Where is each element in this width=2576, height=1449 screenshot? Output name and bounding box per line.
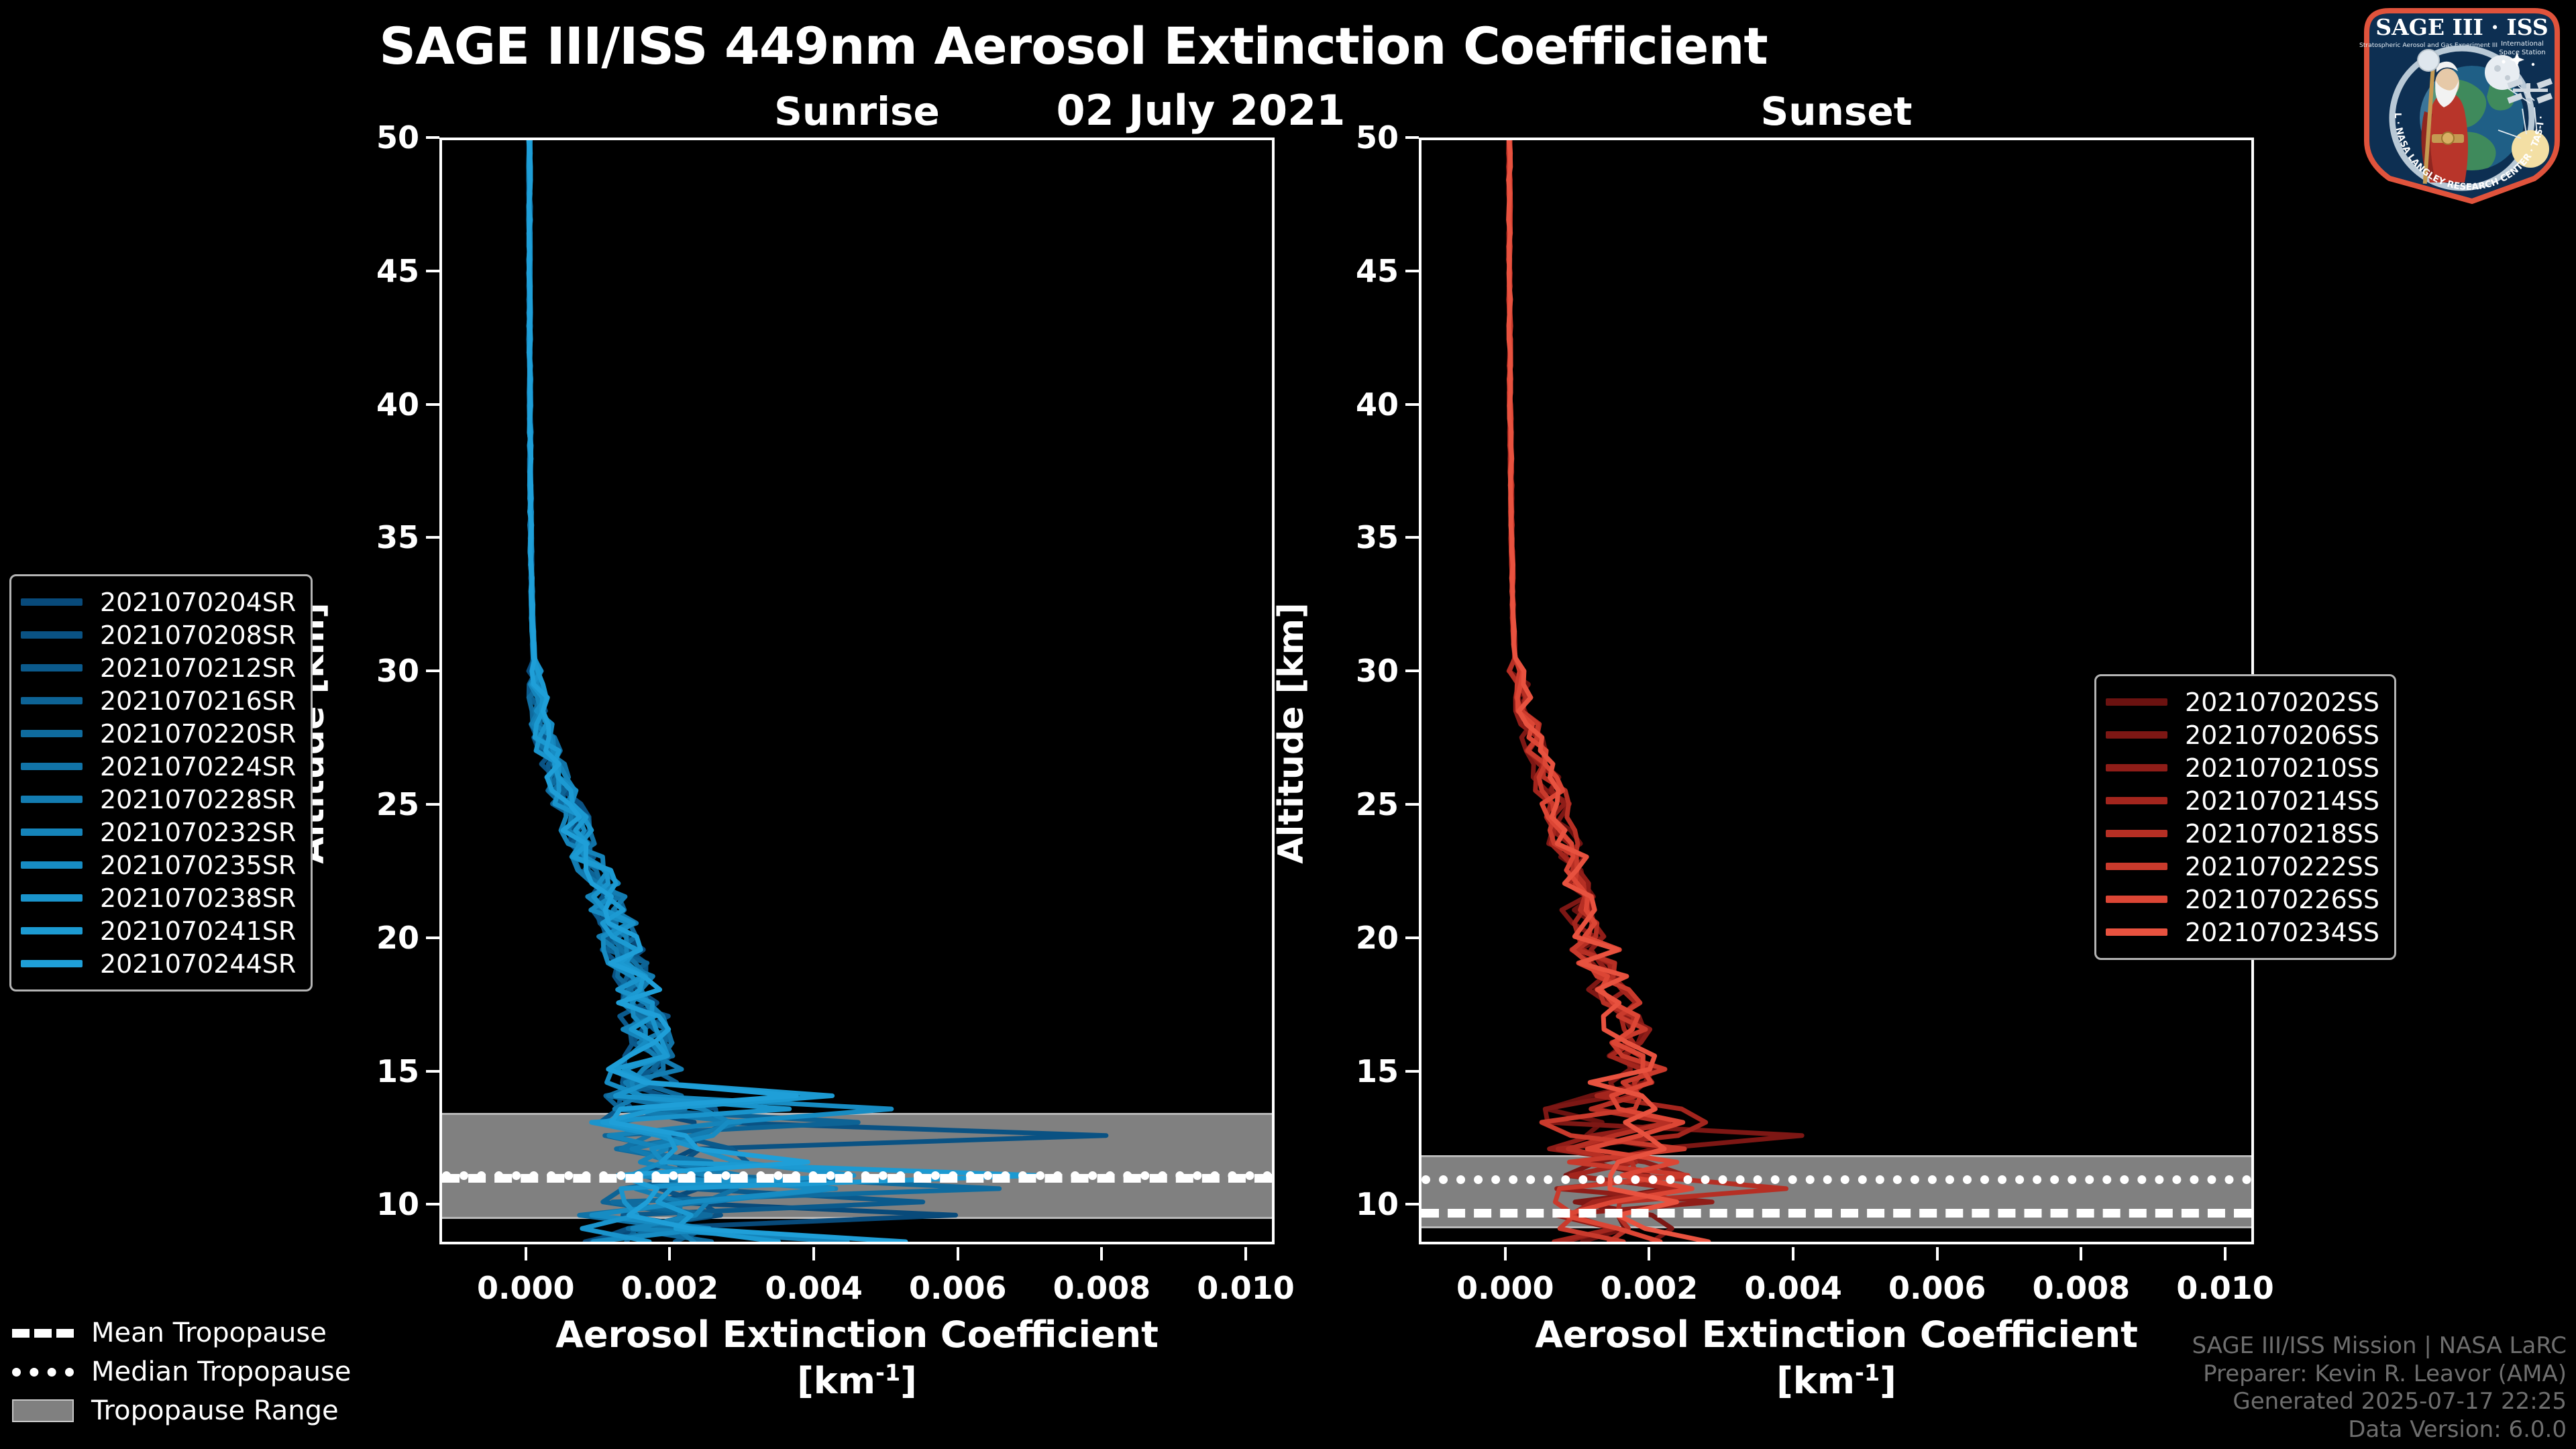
x-tick-label: 0.002	[1601, 1270, 1699, 1306]
legend-item-label: 2021070241SR	[100, 916, 296, 946]
x-axis-label-sunrise: Aerosol Extinction Coefficient [km-1]	[439, 1311, 1275, 1404]
legend-color-swatch	[21, 763, 83, 770]
patch-subtitle-right-1: International	[2501, 40, 2544, 48]
legend-item[interactable]: 2021070234SS	[2106, 916, 2379, 949]
credits-line-4: Data Version: 6.0.0	[2192, 1416, 2567, 1444]
legend-color-swatch	[2106, 797, 2167, 804]
x-tick-mark	[668, 1247, 671, 1260]
profile-line	[529, 140, 1037, 1242]
plot-sunrise	[439, 138, 1275, 1244]
x-tick-mark	[957, 1247, 959, 1260]
profile-line	[1509, 140, 1692, 1242]
legend-item-label: 2021070220SR	[100, 719, 296, 749]
y-tick-mark	[1405, 536, 1419, 539]
y-tick-mark	[426, 936, 439, 939]
y-tick-mark	[1405, 270, 1419, 272]
y-axis-label-sunset: Altitude [km]	[1271, 545, 1311, 921]
legend-color-swatch	[21, 664, 83, 672]
legend-item-label: 2021070214SS	[2185, 786, 2379, 816]
y-tick-label: 50	[1305, 119, 1399, 156]
y-tick-mark	[426, 1203, 439, 1205]
y-tick-mark	[1405, 136, 1419, 139]
y-tick-label: 30	[325, 653, 419, 689]
x-tick-label: 0.004	[765, 1270, 863, 1306]
profile-line	[1509, 140, 1709, 1242]
x-tick-label: 0.002	[621, 1270, 719, 1306]
profile-curves	[442, 140, 1272, 1242]
y-tick-label: 35	[1305, 519, 1399, 555]
legend-color-swatch	[21, 894, 83, 902]
median-tropopause-line	[1421, 1175, 2251, 1184]
x-tick-label: 0.004	[1744, 1270, 1842, 1306]
legend-item[interactable]: 2021070222SS	[2106, 850, 2379, 883]
legend-item[interactable]: 2021070220SR	[21, 717, 296, 750]
legend-color-swatch	[2106, 698, 2167, 706]
legend-item-label: 2021070226SS	[2185, 885, 2379, 914]
legend-color-swatch	[21, 927, 83, 934]
legend-item-label: 2021070238SR	[100, 883, 296, 913]
legend-item-label: 2021070208SR	[100, 621, 296, 650]
legend-item[interactable]: 2021070224SR	[21, 750, 296, 783]
dotted-line-icon	[12, 1368, 74, 1377]
x-axis-label-sunset: Aerosol Extinction Coefficient [km-1]	[1419, 1311, 2254, 1404]
profile-line	[529, 140, 892, 1242]
y-tick-mark	[1405, 403, 1419, 406]
credits-block: SAGE III/ISS Mission | NASA LaRC Prepare…	[2192, 1332, 2567, 1444]
x-tick-label: 0.006	[1888, 1270, 1986, 1306]
legend-item-label: 2021070222SS	[2185, 852, 2379, 881]
dashed-line-icon	[12, 1329, 74, 1338]
legend-color-swatch	[2106, 896, 2167, 903]
y-tick-label: 40	[325, 386, 419, 423]
legend-item-label: 2021070202SS	[2185, 688, 2379, 717]
y-tick-mark	[426, 536, 439, 539]
legend-item[interactable]: 2021070202SS	[2106, 686, 2379, 718]
y-tick-mark	[1405, 1070, 1419, 1073]
y-tick-mark	[1405, 936, 1419, 939]
legend-label-median: Median Tropopause	[91, 1356, 351, 1387]
y-tick-mark	[1405, 669, 1419, 672]
profile-line	[529, 140, 956, 1242]
legend-color-swatch	[2106, 731, 2167, 739]
y-tick-mark	[426, 270, 439, 272]
legend-color-swatch	[2106, 928, 2167, 936]
legend-color-swatch	[2106, 863, 2167, 870]
legend-color-swatch	[21, 598, 83, 606]
y-tick-mark	[426, 1070, 439, 1073]
legend-color-swatch	[21, 960, 83, 967]
legend-color-swatch	[21, 828, 83, 836]
legend-color-swatch	[21, 631, 83, 639]
legend-item-label: 2021070244SR	[100, 949, 296, 979]
legend-item[interactable]: 2021070241SR	[21, 914, 296, 947]
x-tick-label: 0.000	[1456, 1270, 1554, 1306]
legend-sunrise[interactable]: 2021070204SR2021070208SR2021070212SR2021…	[9, 574, 313, 991]
y-tick-label: 20	[1305, 920, 1399, 956]
x-tick-label: 0.010	[2176, 1270, 2274, 1306]
profile-line	[529, 140, 858, 1242]
y-tick-label: 15	[325, 1053, 419, 1089]
legend-item-label: 2021070210SS	[2185, 753, 2379, 783]
legend-item[interactable]: 2021070206SS	[2106, 718, 2379, 751]
x-tick-label: 0.008	[1053, 1270, 1151, 1306]
y-tick-label: 35	[325, 519, 419, 555]
legend-color-swatch	[21, 861, 83, 869]
profile-line	[1509, 140, 1688, 1242]
sage3-iss-mission-patch-logo: SAGE III · ISS Stratospheric Aerosol and…	[2355, 3, 2569, 204]
x-tick-label: 0.000	[477, 1270, 575, 1306]
legend-item[interactable]: 2021070212SR	[21, 651, 296, 684]
page-title: SAGE III/ISS 449nm Aerosol Extinction Co…	[0, 16, 2147, 76]
y-tick-mark	[426, 136, 439, 139]
legend-item[interactable]: 2021070226SS	[2106, 883, 2379, 916]
x-axis-unit: [km-1]	[439, 1358, 1275, 1404]
y-tick-mark	[1405, 1203, 1419, 1205]
x-axis-label-text: Aerosol Extinction Coefficient	[555, 1313, 1159, 1356]
legend-item-label: 2021070228SR	[100, 785, 296, 814]
legend-item-label: 2021070235SR	[100, 851, 296, 880]
legend-item-median-tropopause: Median Tropopause	[12, 1352, 351, 1391]
legend-color-swatch	[2106, 830, 2167, 837]
profile-line	[529, 140, 906, 1242]
x-tick-mark	[525, 1247, 527, 1260]
legend-item[interactable]: 2021070238SR	[21, 881, 296, 914]
legend-color-swatch	[2106, 764, 2167, 771]
legend-item-label: 2021070204SR	[100, 588, 296, 617]
filled-band-icon	[12, 1399, 74, 1422]
y-tick-label: 45	[1305, 253, 1399, 289]
y-tick-label: 25	[325, 786, 419, 822]
legend-sunset[interactable]: 2021070202SS2021070206SS2021070210SS2021…	[2094, 674, 2396, 960]
legend-item[interactable]: 2021070208SR	[21, 619, 296, 651]
legend-item[interactable]: 2021070210SS	[2106, 751, 2379, 784]
legend-item[interactable]: 2021070232SR	[21, 816, 296, 849]
y-tick-label: 50	[325, 119, 419, 156]
patch-moon-crater-2	[2505, 75, 2510, 80]
legend-item[interactable]: 2021070244SR	[21, 947, 296, 980]
legend-item[interactable]: 2021070216SR	[21, 684, 296, 717]
profile-line	[529, 140, 923, 1242]
panel-title-sunset: Sunset	[1419, 89, 2254, 134]
y-tick-mark	[426, 403, 439, 406]
x-tick-mark	[2224, 1247, 2226, 1260]
legend-color-swatch	[21, 697, 83, 704]
x-tick-mark	[1100, 1247, 1103, 1260]
legend-item-label: 2021070216SR	[100, 686, 296, 716]
legend-color-swatch	[21, 796, 83, 803]
x-tick-label: 0.006	[909, 1270, 1007, 1306]
y-tick-label: 15	[1305, 1053, 1399, 1089]
patch-moon-crater	[2494, 65, 2501, 72]
panel-title-sunrise: Sunrise	[439, 89, 1275, 134]
profile-line	[529, 140, 1106, 1242]
legend-item[interactable]: 2021070235SR	[21, 849, 296, 881]
profile-line	[529, 140, 1000, 1242]
x-tick-mark	[1504, 1247, 1507, 1260]
y-tick-mark	[1405, 803, 1419, 806]
legend-label-mean: Mean Tropopause	[91, 1318, 327, 1348]
legend-item[interactable]: 2021070218SS	[2106, 817, 2379, 850]
y-tick-label: 25	[1305, 786, 1399, 822]
legend-item-label: 2021070234SS	[2185, 918, 2379, 947]
x-tick-mark	[1792, 1247, 1794, 1260]
legend-item-label: 2021070212SR	[100, 653, 296, 683]
patch-subtitle-right-2: Space Station	[2499, 49, 2545, 56]
y-tick-label: 40	[1305, 386, 1399, 423]
x-axis-label-text: Aerosol Extinction Coefficient	[1535, 1313, 2138, 1356]
mean-tropopause-line	[1421, 1209, 2251, 1218]
patch-title: SAGE III · ISS	[2375, 14, 2548, 40]
legend-item[interactable]: 2021070214SS	[2106, 784, 2379, 817]
x-tick-mark	[1648, 1247, 1650, 1260]
y-tick-mark	[426, 803, 439, 806]
legend-tropopause: Mean Tropopause Median Tropopause Tropop…	[12, 1313, 351, 1430]
median-tropopause-line	[442, 1171, 1272, 1180]
legend-color-swatch	[21, 730, 83, 737]
x-tick-mark	[1936, 1247, 1939, 1260]
legend-item-mean-tropopause: Mean Tropopause	[12, 1313, 351, 1352]
y-tick-label: 45	[325, 253, 419, 289]
legend-item-label: 2021070232SR	[100, 818, 296, 847]
credits-line-2: Preparer: Kevin R. Leavor (AMA)	[2192, 1360, 2567, 1388]
profile-line	[1509, 140, 1803, 1242]
y-tick-label: 10	[1305, 1186, 1399, 1222]
x-tick-mark	[812, 1247, 815, 1260]
x-tick-label: 0.010	[1197, 1270, 1295, 1306]
y-tick-mark	[426, 669, 439, 672]
legend-label-range: Tropopause Range	[91, 1395, 339, 1426]
legend-item-tropopause-range: Tropopause Range	[12, 1391, 351, 1430]
legend-item[interactable]: 2021070204SR	[21, 586, 296, 619]
x-tick-label: 0.008	[2033, 1270, 2131, 1306]
y-tick-label: 10	[325, 1186, 419, 1222]
profile-line	[529, 140, 847, 1242]
legend-item[interactable]: 2021070228SR	[21, 783, 296, 816]
legend-item-label: 2021070206SS	[2185, 720, 2379, 750]
y-tick-label: 20	[325, 920, 419, 956]
legend-item-label: 2021070224SR	[100, 752, 296, 782]
profile-line	[529, 140, 854, 1242]
x-tick-mark	[2080, 1247, 2082, 1260]
credits-line-3: Generated 2025-07-17 22:25	[2192, 1388, 2567, 1415]
x-tick-mark	[1244, 1247, 1247, 1260]
x-axis-unit: [km-1]	[1419, 1358, 2254, 1404]
legend-item-label: 2021070218SS	[2185, 819, 2379, 849]
credits-line-1: SAGE III/ISS Mission | NASA LaRC	[2192, 1332, 2567, 1360]
y-tick-label: 30	[1305, 653, 1399, 689]
